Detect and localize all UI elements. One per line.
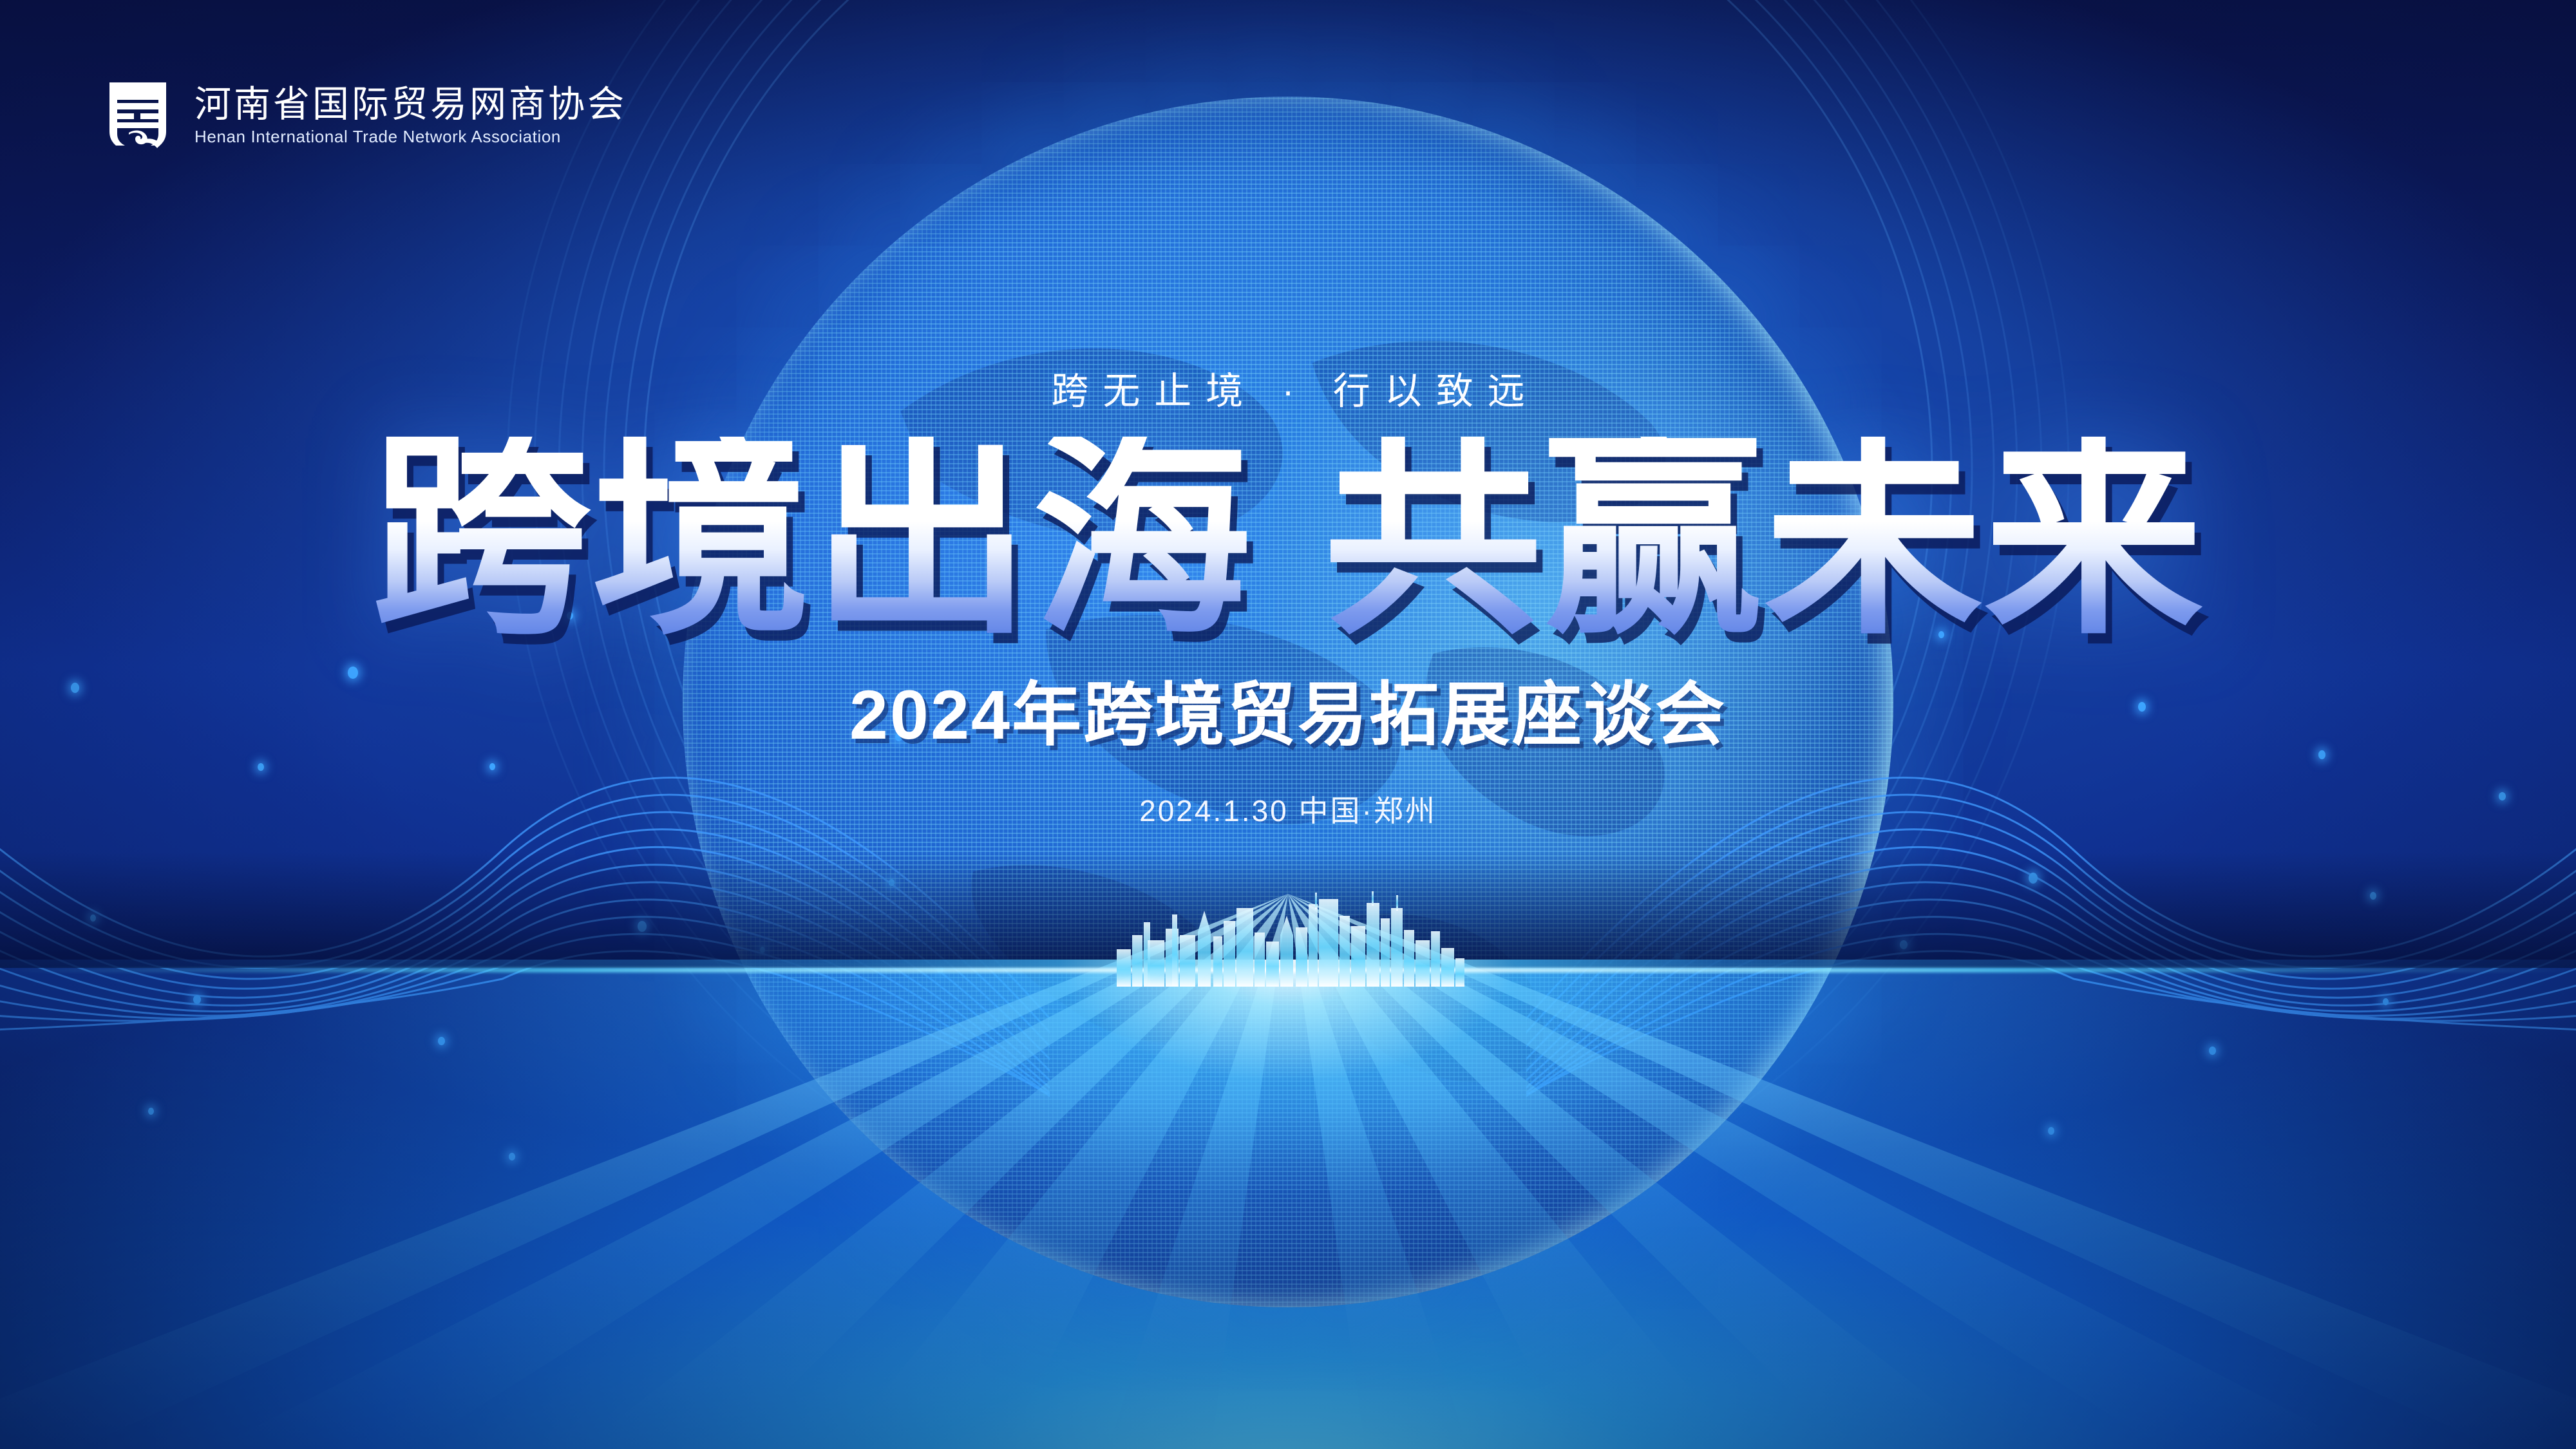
logo-name-cn: 河南省国际贸易网商协会 (194, 86, 627, 123)
event-poster: 河南省国际贸易网商协会 Henan International Trade Ne… (0, 0, 2576, 1449)
logo-name-en: Henan International Trade Network Associ… (194, 128, 627, 145)
globe-landmass (683, 97, 1893, 1307)
digital-earth-globe (683, 97, 1893, 1307)
organization-logo: 河南省国际贸易网商协会 Henan International Trade Ne… (103, 77, 627, 153)
seal-emblem-icon (103, 77, 173, 153)
